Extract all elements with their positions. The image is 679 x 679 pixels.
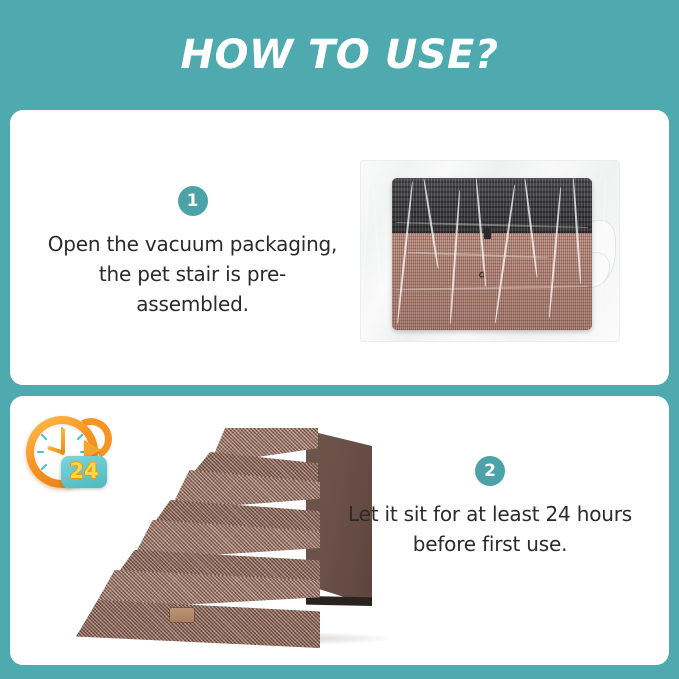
clock-tick — [40, 463, 47, 470]
clock-tick — [37, 451, 44, 453]
clock-tick — [40, 433, 47, 440]
plastic-bag: ♻ — [360, 160, 620, 342]
step-2-text-block: 2 Let it sit for at least 24 hours befor… — [340, 456, 640, 559]
step-1-number-badge: 1 — [178, 186, 208, 216]
step-2-number-badge: 2 — [475, 456, 505, 486]
24-hours-badge-label: 24 — [61, 456, 107, 488]
stair-riser-1 — [76, 600, 320, 648]
step-2-description: Let it sit for at least 24 hours before … — [340, 499, 640, 559]
step-1-description: Open the vacuum packaging, the pet stair… — [45, 229, 340, 319]
how-to-use-infographic: HOW TO USE? 1 Open the vacuum packaging,… — [0, 0, 679, 679]
package-brown-section — [392, 233, 592, 330]
clock-tick — [76, 433, 83, 440]
vacuum-package-image: ♻ — [355, 152, 625, 350]
stairs-base-shadow — [306, 596, 372, 606]
step-card-1: 1 Open the vacuum packaging, the pet sta… — [10, 110, 669, 385]
plastic-wrinkle — [372, 182, 382, 302]
package-clip — [484, 228, 491, 239]
plastic-wrinkle — [360, 174, 370, 324]
24-hour-clock-icon: 24 — [22, 412, 116, 498]
step-1-text-block: 1 Open the vacuum packaging, the pet sta… — [45, 186, 340, 319]
compressed-pet-stair-block: ♻ — [392, 178, 592, 330]
clock-center-pin — [60, 450, 65, 455]
page-title: HOW TO USE? — [0, 32, 679, 78]
24-hours-badge: 24 — [61, 456, 107, 488]
brand-tag-label — [170, 608, 194, 622]
step-card-2: 24 2 Let it sit for at least 24 hours be… — [10, 396, 669, 665]
